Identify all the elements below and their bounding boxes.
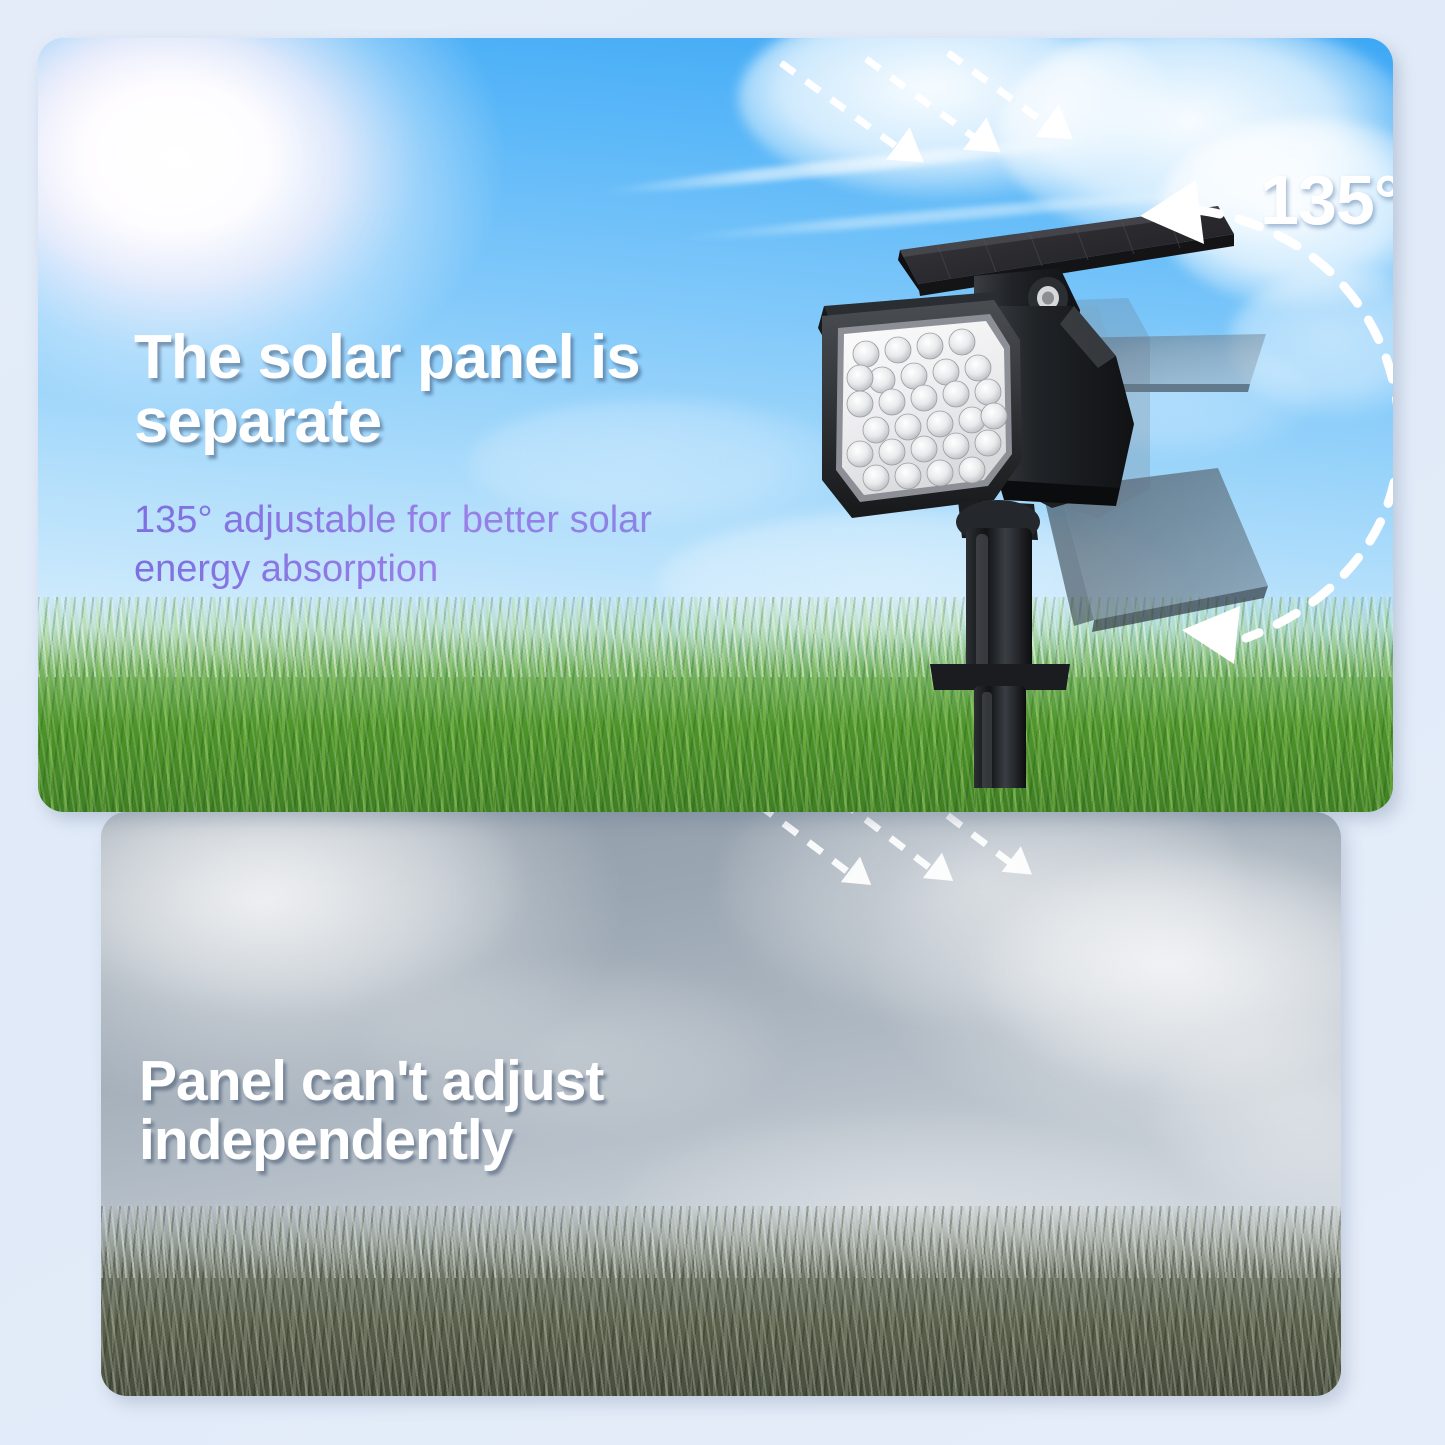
panel-top-card: The solar panel is separate 135° adjusta… bbox=[38, 38, 1393, 812]
gray-grass-ground bbox=[101, 1206, 1341, 1396]
arc-arrowhead-top bbox=[1140, 180, 1204, 244]
angle-label-135: 135° bbox=[1260, 160, 1393, 240]
panel-bottom-card: Panel can't adjust independently bbox=[101, 812, 1341, 1396]
panel-bottom-headline: Panel can't adjust independently bbox=[139, 1052, 779, 1171]
panel-top-headline: The solar panel is separate bbox=[134, 326, 794, 455]
product-comparison-infographic: The solar panel is separate 135° adjusta… bbox=[0, 0, 1445, 1445]
panel-top-subheadline: 135° adjustable for better solar energy … bbox=[134, 496, 794, 595]
arc-arrowhead-bottom bbox=[1182, 606, 1240, 664]
ground-stake-pole bbox=[930, 528, 1070, 788]
